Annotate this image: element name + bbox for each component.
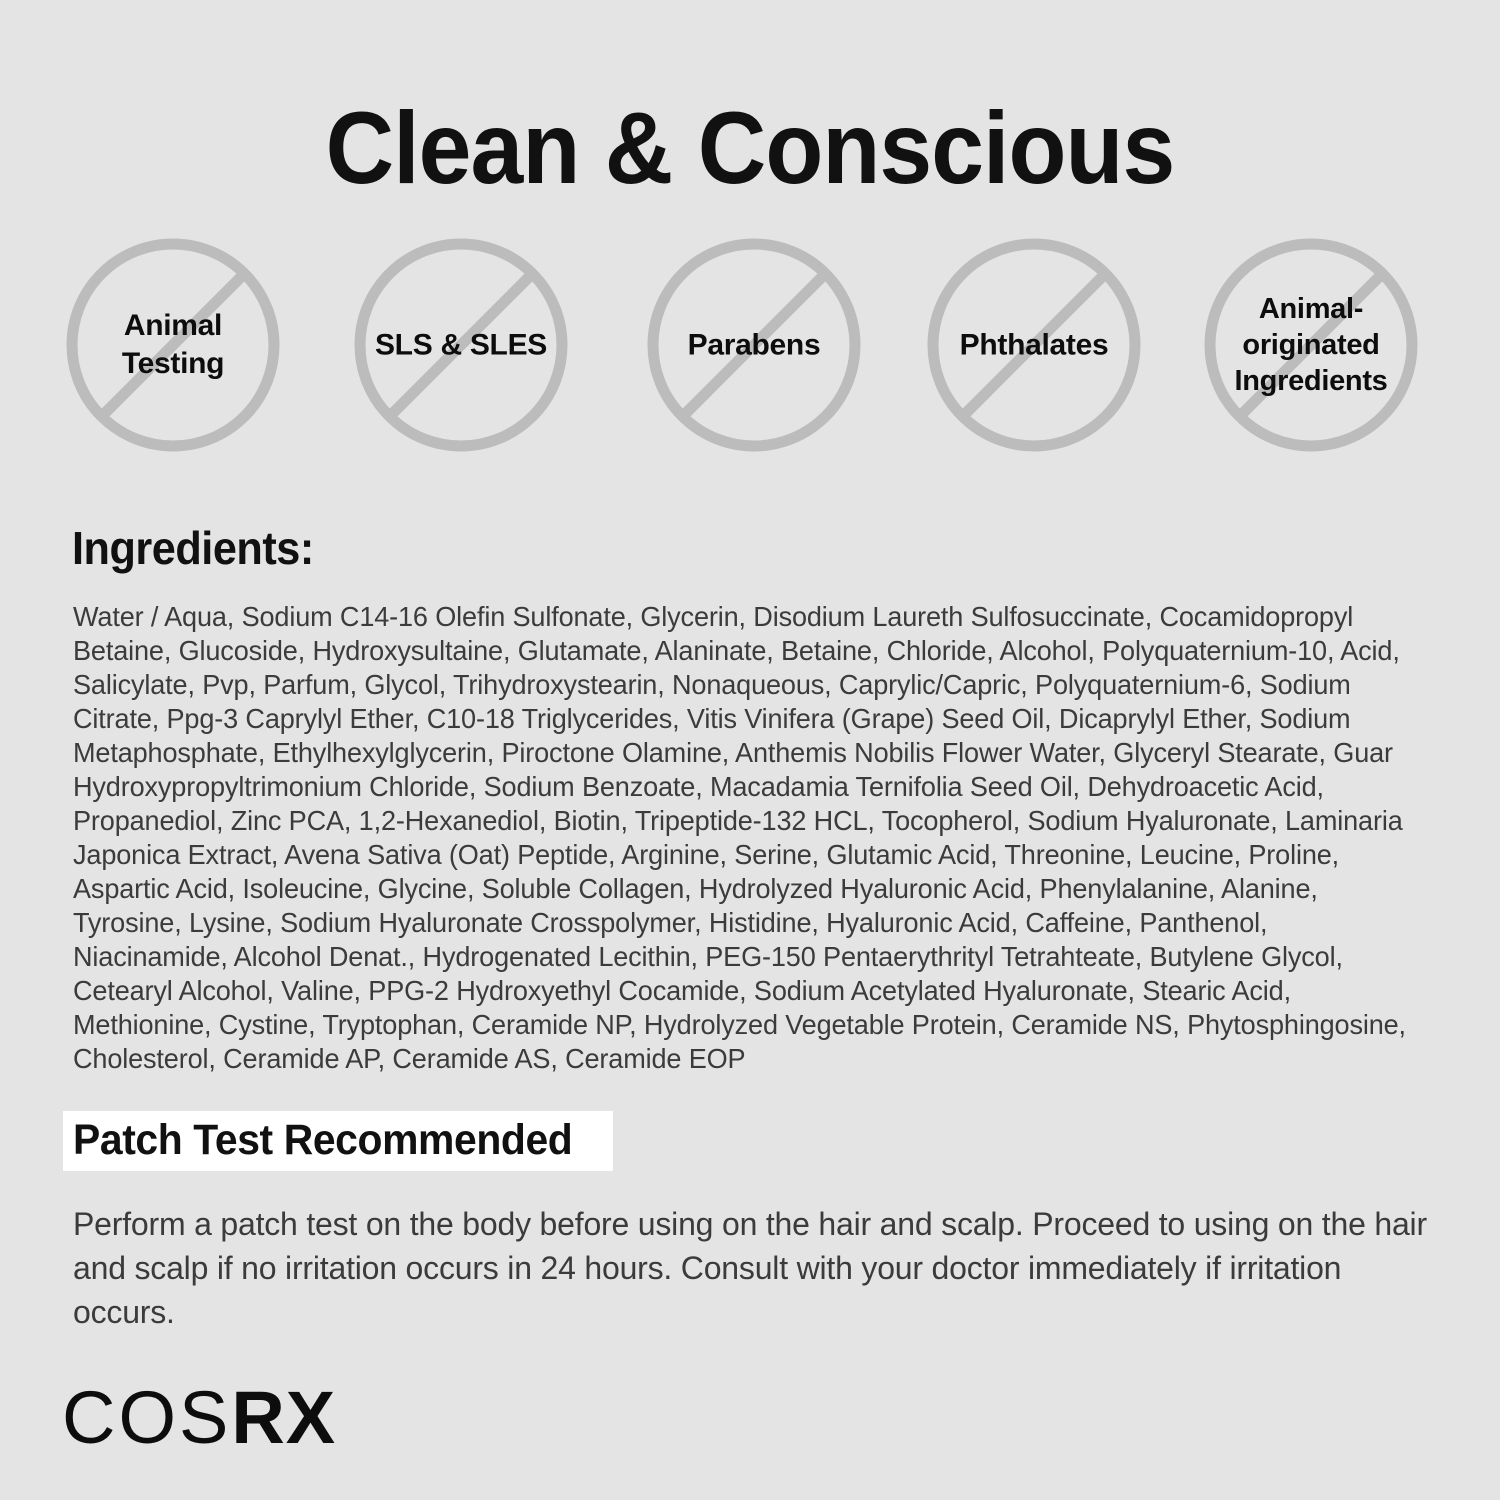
page-title: Clean & Conscious: [53, 96, 1448, 200]
patch-test-heading-highlight: Patch Test Recommended: [63, 1111, 613, 1171]
badge-phthalates: Phthalates: [927, 238, 1141, 452]
badge-label: Phthalates: [919, 328, 1149, 363]
badge-label: SLS & SLES: [346, 328, 576, 363]
logo-text-rx: RX: [231, 1376, 336, 1459]
ingredients-list-text: Water / Aqua, Sodium C14-16 Olefin Sulfo…: [73, 600, 1424, 1076]
patch-test-heading: Patch Test Recommended: [73, 1117, 572, 1163]
free-from-badge-row: Animal Testing SLS & SLES Parabens: [62, 238, 1442, 454]
ingredients-heading: Ingredients:: [72, 522, 314, 574]
badge-label: Parabens: [639, 328, 869, 363]
badge-parabens: Parabens: [647, 238, 861, 452]
badge-animal-originated-ingredients: Animal- originated Ingredients: [1204, 238, 1418, 452]
product-label-page: Clean & Conscious Animal Testing SLS & S…: [0, 0, 1500, 1500]
badge-sls-sles: SLS & SLES: [354, 238, 568, 452]
logo-text-cos: COS: [62, 1376, 231, 1459]
badge-label: Animal Testing: [58, 307, 288, 383]
cosrx-logo: COSRX: [62, 1378, 336, 1458]
badge-animal-testing: Animal Testing: [66, 238, 280, 452]
patch-test-instructions: Perform a patch test on the body before …: [73, 1202, 1443, 1334]
badge-label: Animal- originated Ingredients: [1201, 291, 1421, 399]
